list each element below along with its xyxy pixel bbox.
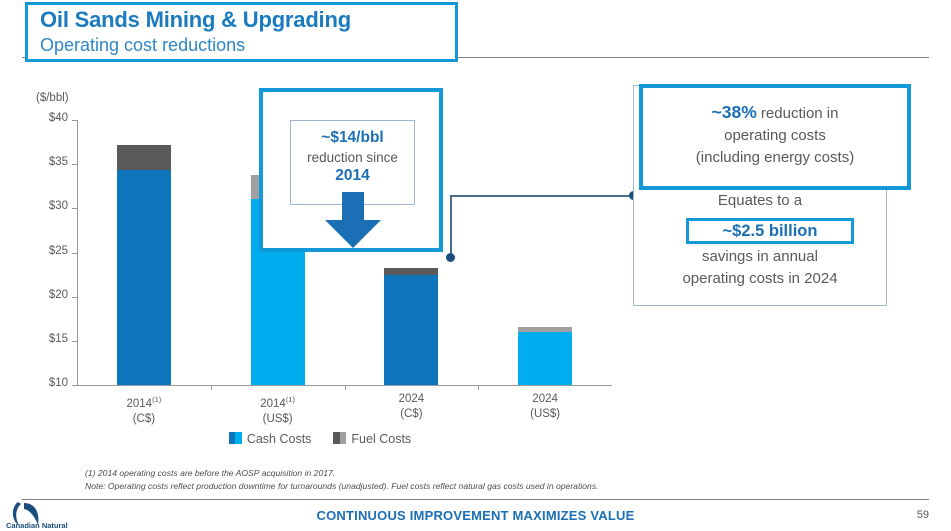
callout-reduction-year: 2014 bbox=[291, 167, 414, 185]
y-tick-label: $10 bbox=[28, 377, 68, 389]
callout-38-percent: ~38% bbox=[712, 102, 757, 122]
legend-item: Cash Costs bbox=[229, 432, 312, 446]
callout-38-line1: ~38% reduction in bbox=[643, 101, 907, 125]
bar-segment-cash-costs bbox=[384, 275, 438, 385]
legend-item: Fuel Costs bbox=[333, 432, 411, 446]
bar-segment-cash-costs bbox=[518, 332, 572, 385]
bar-segment-cash-costs bbox=[117, 170, 171, 385]
x-axis-label: 2024(C$) bbox=[361, 392, 461, 422]
y-tick-mark bbox=[72, 385, 77, 386]
callout-38-percent-box: ~38% reduction in operating costs (inclu… bbox=[639, 84, 911, 190]
y-axis-unit-label: ($/bbl) bbox=[36, 92, 69, 104]
y-tick-label: $30 bbox=[28, 200, 68, 212]
page-subtitle: Operating cost reductions bbox=[40, 35, 245, 56]
connector-horizontal bbox=[450, 195, 633, 197]
page-title: Oil Sands Mining & Upgrading bbox=[40, 7, 351, 33]
chart-legend: Cash CostsFuel Costs bbox=[0, 432, 640, 446]
callout-savings-box: ~$2.5 billion bbox=[686, 218, 854, 244]
y-tick-label: $35 bbox=[28, 156, 68, 168]
x-axis-label: 2014(1)(C$) bbox=[94, 392, 194, 427]
page-number: 59 bbox=[917, 509, 929, 521]
y-tick-mark bbox=[72, 164, 77, 165]
legend-label: Fuel Costs bbox=[351, 432, 411, 446]
y-axis-line bbox=[77, 120, 78, 385]
connector-vertical bbox=[450, 195, 452, 257]
callout-savings-amount: ~$2.5 billion bbox=[689, 221, 851, 242]
title-box: Oil Sands Mining & Upgrading Operating c… bbox=[25, 2, 458, 62]
callout-reduction-amount: ~$14/bbl bbox=[291, 129, 414, 147]
bar-column bbox=[117, 145, 171, 385]
bar-segment-fuel-costs bbox=[117, 145, 171, 171]
legend-swatch bbox=[229, 432, 242, 444]
callout-38-percent-rest: reduction in bbox=[757, 105, 839, 122]
legend-label: Cash Costs bbox=[247, 432, 312, 446]
y-tick-mark bbox=[72, 253, 77, 254]
y-tick-label: $20 bbox=[28, 289, 68, 301]
footer-tagline: CONTINUOUS IMPROVEMENT MAXIMIZES VALUE bbox=[0, 508, 951, 523]
callout-reduction-box: ~$14/bbl reduction since 2014 bbox=[259, 88, 443, 252]
y-tick-mark bbox=[72, 208, 77, 209]
connector-dot-chart bbox=[446, 253, 455, 262]
bar-column bbox=[384, 268, 438, 385]
callout-savings-line2: operating costs in 2024 bbox=[633, 270, 887, 287]
x-axis-label: 2014(1)(US$) bbox=[228, 392, 328, 427]
callout-38-line3: (including energy costs) bbox=[643, 147, 907, 169]
y-tick-label: $15 bbox=[28, 333, 68, 345]
callout-equates-text: Equates to a bbox=[633, 192, 887, 209]
y-tick-mark bbox=[72, 120, 77, 121]
legend-swatch bbox=[333, 432, 346, 444]
y-tick-label: $25 bbox=[28, 245, 68, 257]
x-axis-label: 2024(US$) bbox=[495, 392, 595, 422]
x-tick-mark bbox=[345, 385, 346, 390]
down-arrow-icon bbox=[342, 192, 364, 223]
callout-savings-line1: savings in annual bbox=[633, 248, 887, 265]
x-tick-mark bbox=[211, 385, 212, 390]
footnotes: (1) 2014 operating costs are before the … bbox=[85, 467, 599, 492]
callout-reduction-text: reduction since bbox=[291, 150, 414, 165]
footnote-1: (1) 2014 operating costs are before the … bbox=[85, 467, 599, 480]
y-tick-mark bbox=[72, 341, 77, 342]
y-tick-label: $40 bbox=[28, 112, 68, 124]
footnote-note: Note: Operating costs reflect production… bbox=[85, 480, 599, 493]
bar-column bbox=[518, 327, 572, 385]
down-arrow-head-icon bbox=[325, 220, 381, 248]
callout-38-line2: operating costs bbox=[643, 125, 907, 147]
footer-divider bbox=[22, 499, 929, 500]
y-tick-mark bbox=[72, 297, 77, 298]
x-tick-mark bbox=[478, 385, 479, 390]
